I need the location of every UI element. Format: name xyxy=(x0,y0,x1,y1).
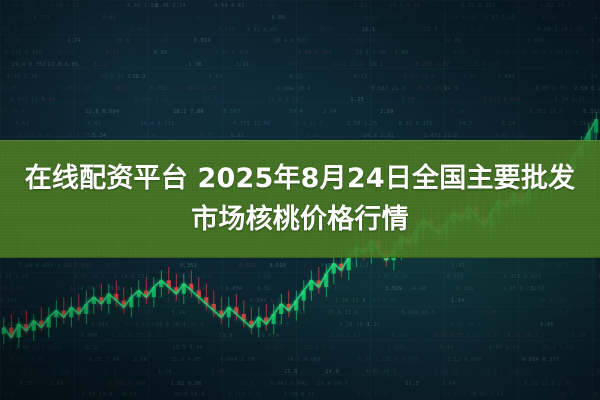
headline-text: 在线配资平台 2025年8月24日全国主要批发市场核桃价格行情 xyxy=(24,158,576,240)
headline-banner: 在线配资平台 2025年8月24日全国主要批发市场核桃价格行情 xyxy=(0,140,600,258)
screenshot-root: 1.93 13.54.48 3.284.05 1.620.48 2.744.48… xyxy=(0,0,600,400)
banner-bottom-edge xyxy=(0,257,600,258)
banner-top-edge xyxy=(0,140,600,141)
